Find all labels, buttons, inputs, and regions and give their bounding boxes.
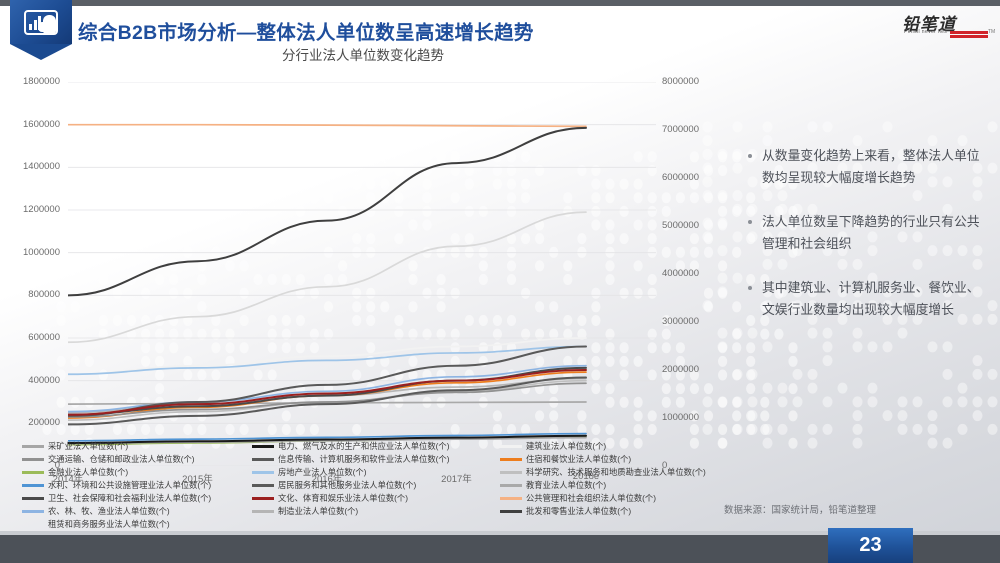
legend-label: 农、林、牧、渔业法人单位数(个) xyxy=(48,505,170,518)
legend-label: 采矿业法人单位数(个) xyxy=(48,440,128,453)
y-axis-left-tick: 800000 xyxy=(2,289,60,300)
y-axis-right-tick: 4000000 xyxy=(662,268,720,279)
y-axis-left-tick: 1200000 xyxy=(2,204,60,215)
y-axis-right-tick: 1000000 xyxy=(662,412,720,423)
data-source-note: 数据来源：国家统计局，铅笔道整理 xyxy=(724,502,876,516)
logo-red-line-2 xyxy=(950,35,988,38)
legend-item[interactable]: 金融业法人单位数(个) xyxy=(22,466,272,479)
legend-color-swatch xyxy=(500,484,522,487)
legend-color-swatch xyxy=(252,471,274,474)
legend-color-swatch xyxy=(22,471,44,474)
chart-title: 分行业法人单位数变化趋势 xyxy=(0,44,726,64)
y-axis-left-tick: 600000 xyxy=(2,332,60,343)
legend-item[interactable]: 卫生、社会保障和社会福利业法人单位数(个) xyxy=(22,492,272,505)
y-axis-left-tick: 1600000 xyxy=(2,119,60,130)
logo-brand-en: Pencil never lies xyxy=(904,29,947,35)
legend-color-swatch xyxy=(500,458,522,461)
y-axis-left-tick: 400000 xyxy=(2,375,60,386)
legend-color-swatch xyxy=(22,458,44,461)
logo-trademark: TM xyxy=(988,29,995,35)
legend-item[interactable]: 文化、体育和娱乐业法人单位数(个) xyxy=(252,492,512,505)
legend-color-swatch xyxy=(22,497,44,500)
legend-label: 建筑业法人单位数(个) xyxy=(526,440,606,453)
legend-label: 教育业法人单位数(个) xyxy=(526,479,606,492)
y-axis-right-tick: 3000000 xyxy=(662,316,720,327)
y-axis-right-tick: 6000000 xyxy=(662,172,720,183)
y-axis-left-tick: 1000000 xyxy=(2,247,60,258)
legend-color-swatch xyxy=(252,510,274,513)
legend-label: 公共管理和社会组织法人单位数(个) xyxy=(526,492,656,505)
legend-color-swatch xyxy=(500,471,522,474)
legend-item[interactable]: 交通运输、仓储和邮政业法人单位数(个) xyxy=(22,453,272,466)
legend-item[interactable]: 公共管理和社会组织法人单位数(个) xyxy=(500,492,750,505)
legend-color-swatch xyxy=(252,497,274,500)
legend-column-2: 电力、燃气及水的生产和供应业法人单位数(个)信息传输、计算机服务和软件业法人单位… xyxy=(252,440,512,518)
legend-color-swatch xyxy=(252,445,274,448)
legend-item[interactable]: 电力、燃气及水的生产和供应业法人单位数(个) xyxy=(252,440,512,453)
legend-item[interactable]: 批发和零售业法人单位数(个) xyxy=(500,505,750,518)
logo-red-line-1 xyxy=(950,31,988,34)
y-axis-left-tick: 1400000 xyxy=(2,161,60,172)
page-number-badge: 23 xyxy=(828,528,913,563)
insight-bullet: 其中建筑业、计算机服务业、餐饮业、文娱行业数量均出现较大幅度增长 xyxy=(748,277,988,321)
y-axis-right-tick: 7000000 xyxy=(662,124,720,135)
legend-label: 水利、环境和公共设施管理业法人单位数(个) xyxy=(48,479,211,492)
legend-label: 信息传输、计算机服务和软件业法人单位数(个) xyxy=(278,453,449,466)
chart-lines-svg xyxy=(68,82,656,466)
slide-canvas: 综合B2B市场分析—整体法人单位数呈高速增长趋势 铅笔道 Pencil neve… xyxy=(0,0,1000,563)
legend-column-3: 建筑业法人单位数(个)住宿和餐饮业法人单位数(个)科学研究、技术服务和地质勘查业… xyxy=(500,440,750,518)
legend-label: 文化、体育和娱乐业法人单位数(个) xyxy=(278,492,408,505)
legend-label: 批发和零售业法人单位数(个) xyxy=(526,505,631,518)
legend-item[interactable]: 教育业法人单位数(个) xyxy=(500,479,750,492)
legend-item[interactable]: 建筑业法人单位数(个) xyxy=(500,440,750,453)
chart-container: 分行业法人单位数变化趋势 020000040000060000080000010… xyxy=(0,44,726,444)
legend-color-swatch xyxy=(22,510,44,513)
insight-bullet: 法人单位数呈下降趋势的行业只有公共管理和社会组织 xyxy=(748,211,988,255)
legend-column-1: 采矿业法人单位数(个)交通运输、仓储和邮政业法人单位数(个)金融业法人单位数(个… xyxy=(22,440,272,531)
legend-color-swatch xyxy=(500,510,522,513)
y-axis-right-tick: 2000000 xyxy=(662,364,720,375)
y-axis-left-tick: 1800000 xyxy=(2,76,60,87)
legend-item[interactable]: 水利、环境和公共设施管理业法人单位数(个) xyxy=(22,479,272,492)
chart-plot-area xyxy=(68,82,656,466)
legend-item[interactable]: 信息传输、计算机服务和软件业法人单位数(个) xyxy=(252,453,512,466)
insight-bullet: 从数量变化趋势上来看，整体法人单位数均呈现较大幅度增长趋势 xyxy=(748,145,988,189)
legend-color-swatch xyxy=(252,458,274,461)
legend-color-swatch xyxy=(22,484,44,487)
chart-legend: 采矿业法人单位数(个)交通运输、仓储和邮政业法人单位数(个)金融业法人单位数(个… xyxy=(22,440,722,520)
legend-label: 制造业法人单位数(个) xyxy=(278,505,358,518)
legend-color-swatch xyxy=(252,484,274,487)
y-axis-right-tick: 8000000 xyxy=(662,76,720,87)
legend-label: 科学研究、技术服务和地质勘查业法人单位数(个) xyxy=(526,466,706,479)
legend-item[interactable]: 采矿业法人单位数(个) xyxy=(22,440,272,453)
legend-color-swatch xyxy=(500,445,522,448)
legend-label-continued: 租赁和商务服务业法人单位数(个) xyxy=(22,518,272,531)
legend-color-swatch xyxy=(500,497,522,500)
y-axis-right-tick: 5000000 xyxy=(662,220,720,231)
legend-label: 居民服务和其他服务业法人单位数(个) xyxy=(278,479,416,492)
logo-hand-icon xyxy=(43,15,56,34)
legend-color-swatch xyxy=(22,445,44,448)
legend-item[interactable]: 科学研究、技术服务和地质勘查业法人单位数(个) xyxy=(500,466,750,479)
pencil-dao-logo: 铅笔道 Pencil never lies TM xyxy=(898,10,990,42)
legend-item[interactable]: 房地产业法人单位数(个) xyxy=(252,466,512,479)
top-accent-bar xyxy=(0,0,1000,6)
legend-label: 交通运输、仓储和邮政业法人单位数(个) xyxy=(48,453,195,466)
legend-label: 电力、燃气及水的生产和供应业法人单位数(个) xyxy=(278,440,449,453)
legend-label: 卫生、社会保障和社会福利业法人单位数(个) xyxy=(48,492,211,505)
legend-item[interactable]: 制造业法人单位数(个) xyxy=(252,505,512,518)
page-title: 综合B2B市场分析—整体法人单位数呈高速增长趋势 xyxy=(78,16,534,45)
legend-item[interactable]: 居民服务和其他服务业法人单位数(个) xyxy=(252,479,512,492)
legend-label: 房地产业法人单位数(个) xyxy=(278,466,367,479)
legend-item[interactable]: 住宿和餐饮业法人单位数(个) xyxy=(500,453,750,466)
legend-label: 金融业法人单位数(个) xyxy=(48,466,128,479)
legend-item[interactable]: 农、林、牧、渔业法人单位数(个) xyxy=(22,505,272,518)
legend-label: 住宿和餐饮业法人单位数(个) xyxy=(526,453,631,466)
insights-panel: 从数量变化趋势上来看，整体法人单位数均呈现较大幅度增长趋势 法人单位数呈下降趋势… xyxy=(748,145,988,343)
y-axis-left-tick: 200000 xyxy=(2,417,60,428)
